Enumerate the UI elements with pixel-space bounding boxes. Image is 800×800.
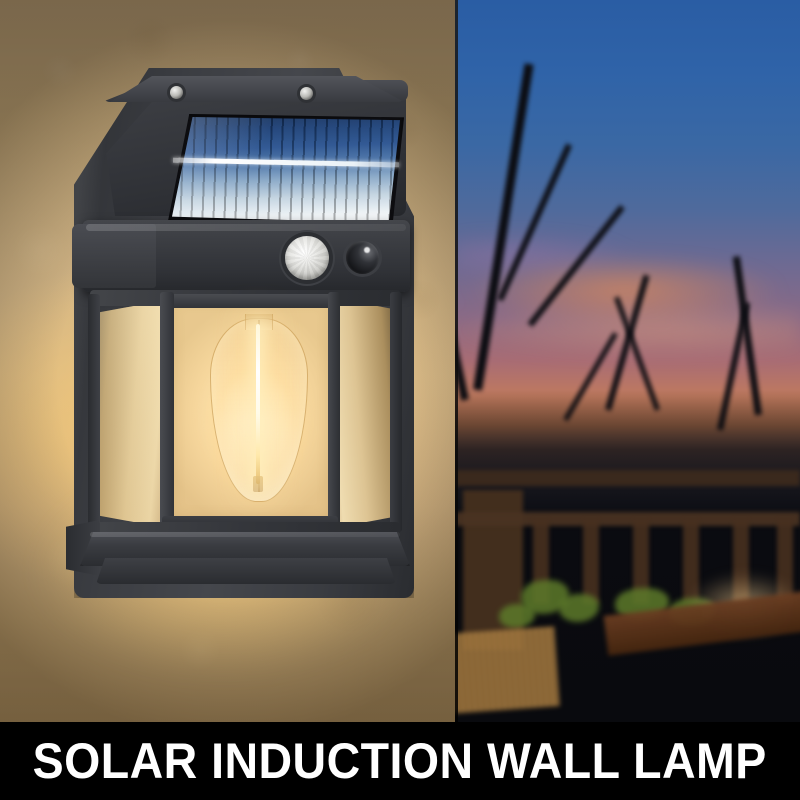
lantern-frame-front-top [162,294,338,308]
photocell-specular-highlight [364,247,370,253]
lantern-frame-left-edge [88,294,100,534]
bulb-tip [253,476,263,492]
wicker-chair [455,626,560,713]
screw-left-icon [170,86,183,99]
sensor-band-highlight [86,224,406,231]
lantern-mullion-left [160,292,174,536]
right-photo-patio-scene: Smart Sensor Outdoor Waterproof Solar En… [455,0,800,722]
solar-wall-lamp-product [60,68,440,628]
lantern-mullion-right [328,292,340,534]
deck-baluster [583,520,599,604]
pir-sensor-facets [285,236,329,280]
glass-pane-right [334,298,396,528]
lamp-base-front [96,558,396,584]
glass-pane-left-sheen [92,300,166,528]
lamp-top-bevel [104,76,404,102]
sensor-band-left-cap [72,224,156,288]
product-marketing-image: Smart Sensor Outdoor Waterproof Solar En… [0,0,800,800]
product-title: SOLAR INDUCTION WALL LAMP [33,732,767,790]
solar-panel-glare [172,117,400,223]
product-title-banner: SOLAR INDUCTION WALL LAMP [0,722,800,800]
lantern-frame-right-edge [390,292,402,532]
lamp-base-highlight [90,532,400,537]
photocell-light-sensor-icon [346,241,379,274]
panel-divider [455,0,458,722]
lantern-housing [90,290,400,540]
bulb-filament [256,324,260,484]
deck-rail-top [455,470,800,486]
screw-right-icon [300,87,313,100]
left-photo-wall-scene [0,0,455,722]
